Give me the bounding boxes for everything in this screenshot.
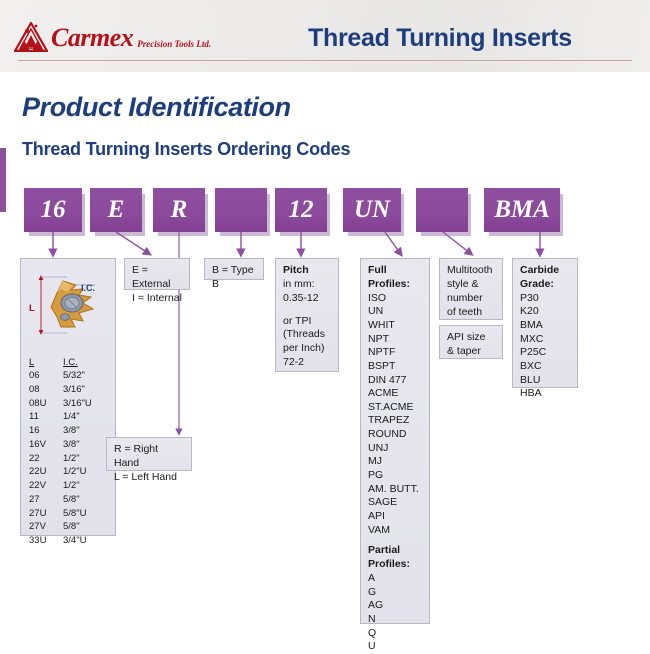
logo-tagline: Precision Tools Ltd.	[137, 39, 211, 49]
thread-profiles-box: Full Profiles: ISOUNWHITNPTNPTFBSPTDIN 4…	[360, 258, 430, 624]
list-item: P25C	[520, 346, 570, 360]
box-line: in mm:	[283, 278, 331, 292]
cell-ic: 3/8"	[63, 438, 111, 452]
box-line: 72-2	[283, 356, 331, 370]
table-row: 083/16"	[29, 383, 111, 397]
table-row: 275/8"	[29, 493, 111, 507]
box-line: R = Right Hand	[114, 443, 184, 471]
code-box-1[interactable]: E	[90, 188, 142, 232]
list-item: NPT	[368, 333, 422, 347]
full-profiles-list: ISOUNWHITNPTNPTFBSPTDIN 477ACMEST.ACMETR…	[368, 292, 422, 538]
logo-wordmark: Carmex	[51, 25, 133, 51]
cell-ic: 5/32"	[63, 369, 111, 383]
cell-l: 16	[29, 424, 63, 438]
list-item: AG	[368, 599, 422, 613]
list-item: ROUND	[368, 428, 422, 442]
list-item: BXC	[520, 360, 570, 374]
cell-l: 33U	[29, 534, 63, 548]
list-item: VAM	[368, 524, 422, 538]
cell-l: 16V	[29, 438, 63, 452]
carbide-grade-list: P30K20BMAMXCP25CBXCBLUHBA	[520, 292, 570, 401]
partial-profiles-list: AGAGNQU	[368, 572, 422, 654]
partial-profiles-title-2: Profiles:	[368, 558, 422, 572]
table-row: 33U3/4"U	[29, 534, 111, 548]
table-row: 22V1/2"	[29, 479, 111, 493]
code-box-5[interactable]: UN	[343, 188, 401, 232]
box-line: or TPI	[283, 315, 331, 329]
list-item: AM. BUTT.	[368, 483, 422, 497]
code-box-0[interactable]: 16	[24, 188, 82, 232]
list-item: K20	[520, 305, 570, 319]
partial-profiles-title: Partial	[368, 544, 422, 558]
box-line: E = External	[132, 264, 182, 292]
cell-l: 27U	[29, 507, 63, 521]
box-line: per Inch)	[283, 342, 331, 356]
box-line: style &	[447, 278, 495, 292]
list-item: ST.ACME	[368, 401, 422, 415]
cell-ic: 3/16"	[63, 383, 111, 397]
list-item: NPTF	[368, 346, 422, 360]
list-item: U	[368, 640, 422, 654]
hand-direction-box: R = Right Hand L = Left Hand	[106, 437, 192, 471]
page-title: Product Identification	[22, 92, 291, 123]
page-header: Carmex Precision Tools Ltd. Thread Turni…	[0, 0, 650, 72]
full-profiles-title-2: Profiles:	[368, 278, 422, 292]
cell-ic: 5/8"	[63, 520, 111, 534]
column-header-l: L	[29, 357, 63, 368]
cell-ic: 3/8"	[63, 424, 111, 438]
insert-size-table: L I.C. 065/32"083/16"08U3/16"U111/4"163/…	[29, 357, 111, 548]
table-row: 27V5/8"	[29, 520, 111, 534]
box-line: of teeth	[447, 306, 495, 320]
full-profiles-title: Full	[368, 264, 422, 278]
cell-ic: 1/2"	[63, 452, 111, 466]
table-row: 27U5/8"U	[29, 507, 111, 521]
list-item: ISO	[368, 292, 422, 306]
brand-logo: Carmex Precision Tools Ltd.	[14, 22, 211, 52]
table-body: 065/32"083/16"08U3/16"U111/4"163/8"16V3/…	[29, 369, 111, 548]
type-b-box: B = Type B	[204, 258, 264, 280]
list-item: MJ	[368, 455, 422, 469]
cell-l: 22V	[29, 479, 63, 493]
table-row: 08U3/16"U	[29, 397, 111, 411]
carbide-title-2: Grade:	[520, 278, 570, 292]
cell-l: 06	[29, 369, 63, 383]
dimension-label-ic: I.C.	[81, 283, 95, 293]
code-box-6[interactable]	[416, 188, 468, 232]
header-divider	[18, 60, 632, 61]
carbide-grade-box: Carbide Grade: P30K20BMAMXCP25CBXCBLUHBA	[512, 258, 578, 388]
table-row: 111/4"	[29, 410, 111, 424]
external-internal-box: E = External I = Internal	[124, 258, 190, 290]
cell-ic: 5/8"U	[63, 507, 111, 521]
pitch-title: Pitch	[283, 264, 331, 278]
cell-ic: 3/4"U	[63, 534, 111, 548]
box-line: number	[447, 292, 495, 306]
code-box-7[interactable]: BMA	[484, 188, 560, 232]
box-line: (Threads	[283, 328, 331, 342]
left-accent-bar	[0, 148, 6, 212]
code-box-2[interactable]: R	[153, 188, 205, 232]
box-line: Multitooth	[447, 264, 495, 278]
box-line: B = Type B	[212, 264, 256, 292]
box-line: & taper	[447, 345, 495, 359]
code-box-4[interactable]: 12	[275, 188, 327, 232]
list-item: BMA	[520, 319, 570, 333]
list-item: HBA	[520, 387, 570, 401]
table-row: 163/8"	[29, 424, 111, 438]
cell-ic: 1/2"U	[63, 465, 111, 479]
list-item: PG	[368, 469, 422, 483]
table-header-row: L I.C.	[29, 357, 111, 368]
table-row: 221/2"	[29, 452, 111, 466]
list-item: G	[368, 586, 422, 600]
cell-l: 27V	[29, 520, 63, 534]
list-item: Q	[368, 627, 422, 641]
list-item: SAGE	[368, 496, 422, 510]
header-product-title: Thread Turning Inserts	[308, 24, 572, 53]
list-item: UNJ	[368, 442, 422, 456]
insert-dimension-panel: L I.C. L I.C. 065/32"083/16"08U3/16"U111…	[20, 258, 116, 536]
box-line: L = Left Hand	[114, 471, 184, 485]
list-item: DIN 477	[368, 374, 422, 388]
api-size-box: API size & taper	[439, 325, 503, 359]
list-item: TRAPEZ	[368, 414, 422, 428]
page-subtitle: Thread Turning Inserts Ordering Codes	[22, 139, 350, 160]
list-item: BLU	[520, 374, 570, 388]
thread-insert-illustration-icon	[21, 259, 117, 355]
cell-l: 11	[29, 410, 63, 424]
cell-ic: 1/4"	[63, 410, 111, 424]
list-item: WHIT	[368, 319, 422, 333]
list-item: ACME	[368, 387, 422, 401]
pitch-box: Pitch in mm: 0.35-12 or TPI (Threads per…	[275, 258, 339, 372]
carbide-title: Carbide	[520, 264, 570, 278]
cell-ic: 1/2"	[63, 479, 111, 493]
multitooth-box: Multitooth style & number of teeth	[439, 258, 503, 320]
list-item: UN	[368, 305, 422, 319]
list-item: BSPT	[368, 360, 422, 374]
list-item: MXC	[520, 333, 570, 347]
table-row: 065/32"	[29, 369, 111, 383]
cell-l: 08U	[29, 397, 63, 411]
cell-ic: 5/8"	[63, 493, 111, 507]
table-row: 16V3/8"	[29, 438, 111, 452]
box-line: 0.35-12	[283, 292, 331, 306]
box-line: I = Internal	[132, 292, 182, 306]
list-item: A	[368, 572, 422, 586]
dimension-label-length: L	[29, 303, 35, 314]
list-item: N	[368, 613, 422, 627]
carmex-triangle-logo-icon	[14, 22, 48, 52]
list-item: P30	[520, 292, 570, 306]
table-row: 22U1/2"U	[29, 465, 111, 479]
box-line: API size	[447, 331, 495, 345]
column-header-ic: I.C.	[63, 357, 78, 368]
list-item: API	[368, 510, 422, 524]
cell-l: 22U	[29, 465, 63, 479]
cell-l: 27	[29, 493, 63, 507]
code-box-3[interactable]	[215, 188, 267, 232]
cell-ic: 3/16"U	[63, 397, 111, 411]
cell-l: 22	[29, 452, 63, 466]
cell-l: 08	[29, 383, 63, 397]
